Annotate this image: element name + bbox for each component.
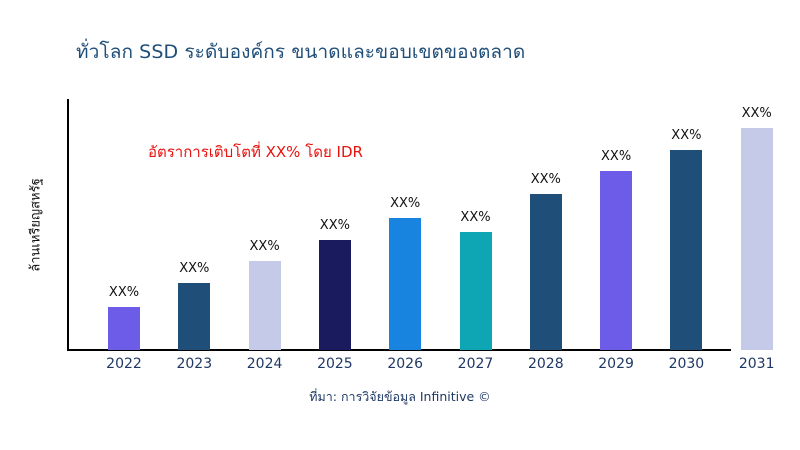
chart-container: ทั่วโลก SSD ระดับองค์กร ขนาดและขอบเขตของ…	[0, 0, 800, 450]
growth-rate-annotation: อัตราการเติบโตที่ XX% โดย IDR	[148, 140, 363, 164]
x-tick-label-2027: 2027	[436, 356, 516, 372]
x-tick-label-2029: 2029	[576, 356, 656, 372]
x-tick-label-2023: 2023	[154, 356, 234, 372]
x-tick-label-2026: 2026	[365, 356, 445, 372]
bar-2025[interactable]	[319, 240, 351, 350]
x-tick-label-2030: 2030	[646, 356, 726, 372]
bar-2030[interactable]	[670, 150, 702, 350]
x-tick-label-2028: 2028	[506, 356, 586, 372]
bar-2024[interactable]	[249, 261, 281, 350]
bar-value-label-2030: XX%	[671, 128, 701, 143]
bar-value-label-2024: XX%	[250, 239, 280, 254]
bar-value-label-2022: XX%	[109, 285, 139, 300]
bar-value-label-2029: XX%	[601, 149, 631, 164]
bar-value-label-2026: XX%	[390, 196, 420, 211]
plot-area: XX%2022XX%2023XX%2024XX%2025XX%2026XX%20…	[0, 0, 800, 450]
bar-2028[interactable]	[530, 194, 562, 350]
bar-value-label-2031: XX%	[742, 106, 772, 121]
x-tick-label-2022: 2022	[84, 356, 164, 372]
bar-2027[interactable]	[460, 232, 492, 350]
x-tick-label-2031: 2031	[717, 356, 797, 372]
x-tick-label-2025: 2025	[295, 356, 375, 372]
x-tick-label-2024: 2024	[225, 356, 305, 372]
bar-value-label-2023: XX%	[179, 261, 209, 276]
bar-value-label-2028: XX%	[531, 172, 561, 187]
bar-2031[interactable]	[741, 128, 773, 350]
bar-value-label-2027: XX%	[460, 210, 490, 225]
bar-2026[interactable]	[389, 218, 421, 350]
bar-value-label-2025: XX%	[320, 218, 350, 233]
bar-2029[interactable]	[600, 171, 632, 350]
bar-2022[interactable]	[108, 307, 140, 350]
bar-2023[interactable]	[178, 283, 210, 350]
source-note: ที่มา: การวิจัยข้อมูล Infinitive ©	[0, 387, 800, 407]
